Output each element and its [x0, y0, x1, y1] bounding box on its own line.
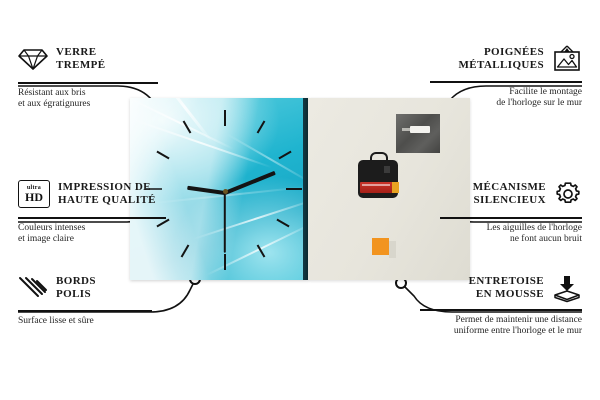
- foam-spacer: [372, 238, 389, 255]
- feature-title-line2: SILENCIEUX: [473, 194, 546, 207]
- feature-desc-line1: Permet de maintenir une distance: [412, 315, 582, 327]
- clock-tick: [224, 110, 226, 126]
- hanger-slot: [410, 126, 430, 133]
- feature-title-line1: VERRE: [56, 46, 105, 59]
- feature-title-line1: ENTRETOISE: [469, 275, 544, 288]
- feature-desc-line2: uniforme entre l'horloge et le mur: [412, 326, 582, 338]
- feature-desc-line2: ne font aucun bruit: [432, 234, 582, 246]
- gear-icon: [554, 180, 582, 208]
- ultra-hd-icon: ultra HD: [18, 180, 50, 208]
- feature-entretoise-en-mousse: ENTRETOISE EN MOUSSE Permet de maintenir…: [412, 272, 582, 338]
- second-hand: [224, 193, 226, 253]
- clock-tick: [286, 188, 302, 190]
- feature-poignees-metalliques: POIGNÉES MÉTALLIQUES Facilite le montage…: [422, 42, 582, 110]
- foam-spacer-icon: [552, 274, 582, 302]
- feature-bords-polis: BORDS POLIS Surface lisse et sûre: [18, 272, 178, 327]
- infographic-canvas: VERRE TREMPÉ Résistant aux bris et aux é…: [0, 0, 600, 400]
- feature-title-line1: IMPRESSION DE: [58, 181, 156, 194]
- hour-hand: [187, 186, 225, 195]
- hanger-notch: [402, 128, 410, 131]
- feature-divider: [440, 217, 582, 219]
- polished-edges-icon: [18, 276, 48, 300]
- clock-tick: [278, 151, 291, 160]
- clock-tick: [181, 244, 190, 257]
- feature-divider: [18, 217, 166, 219]
- diamond-icon: [18, 47, 48, 71]
- feature-title-line1: MÉCANISME: [473, 181, 546, 194]
- feature-desc-line1: Facilite le montage: [422, 87, 582, 99]
- feature-verre-trempe: VERRE TREMPÉ Résistant aux bris et aux é…: [18, 42, 178, 111]
- clock-center-hub: [223, 189, 228, 194]
- feature-title-line2: MÉTALLIQUES: [459, 59, 545, 72]
- metal-hanger-plate: [396, 114, 440, 153]
- feature-divider: [18, 82, 158, 84]
- feature-divider: [18, 310, 152, 312]
- feature-desc-line2: et image claire: [18, 234, 188, 246]
- battery-terminal: [392, 182, 399, 193]
- feature-desc-line1: Résistant aux bris: [18, 88, 178, 100]
- clock-tick: [156, 151, 169, 160]
- feature-title-line1: POIGNÉES: [459, 46, 545, 59]
- picture-hanger-icon: [552, 45, 582, 73]
- battery-label: [362, 184, 390, 186]
- ultra-hd-main-label: HD: [25, 191, 43, 203]
- feature-desc-line2: et aux égratignures: [18, 99, 178, 111]
- feature-title-line2: POLIS: [56, 288, 96, 301]
- feature-title-line2: EN MOUSSE: [469, 288, 544, 301]
- feature-impression-hd: ultra HD IMPRESSION DE HAUTE QUALITÉ Cou…: [18, 176, 188, 246]
- feature-divider: [420, 309, 582, 311]
- feature-mecanisme-silencieux: MÉCANISME SILENCIEUX Les aiguilles de l'…: [432, 176, 582, 246]
- feature-desc-line2: de l'horloge sur le mur: [422, 98, 582, 110]
- feature-title-line2: TREMPÉ: [56, 59, 105, 72]
- feature-desc-line1: Couleurs intenses: [18, 223, 188, 235]
- feature-desc-line1: Surface lisse et sûre: [18, 316, 178, 328]
- feature-divider: [430, 81, 582, 83]
- feature-title-line2: HAUTE QUALITÉ: [58, 194, 156, 207]
- foam-spacer-shadow: [389, 241, 396, 258]
- feature-title-line1: BORDS: [56, 275, 96, 288]
- mechanism-knob: [384, 166, 390, 173]
- clock-tick: [276, 219, 289, 228]
- clock-tick: [224, 254, 226, 270]
- clock-tick: [257, 120, 266, 133]
- feature-desc-line1: Les aiguilles de l'horloge: [432, 223, 582, 235]
